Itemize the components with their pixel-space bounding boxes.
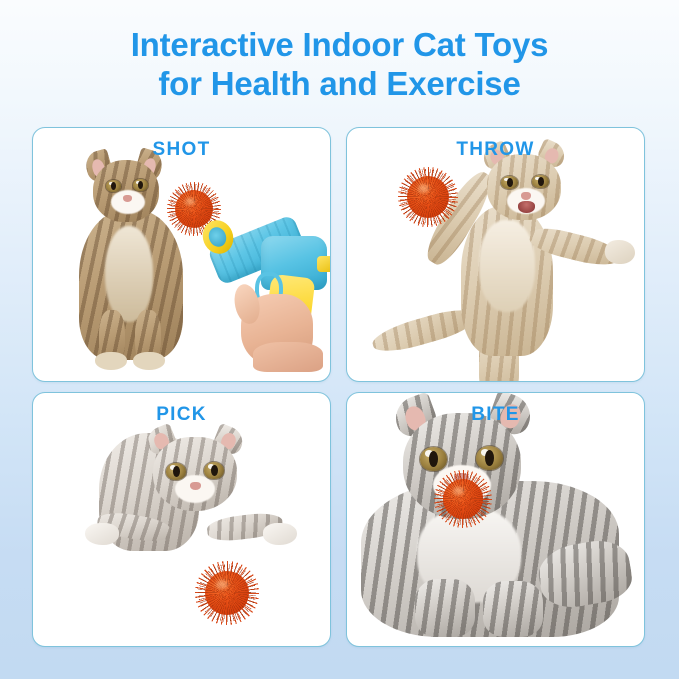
cat-crouching-silver-tabby: [91, 431, 281, 581]
panel-label-bite: BITE: [347, 404, 644, 426]
cat-chest: [105, 226, 153, 322]
cat-eye-glint-left: [170, 465, 176, 469]
cat-lying-silver-tabby: [361, 403, 631, 639]
cat-paw-left: [95, 352, 127, 370]
cat-eye-left: [166, 463, 186, 480]
cat-eye-glint-left: [504, 178, 509, 181]
cat-paw-right: [605, 240, 635, 264]
feature-panel-grid: SHOT: [32, 127, 645, 647]
cat-eye-right: [133, 179, 148, 191]
cat-chest: [479, 220, 535, 312]
panel-label-throw: THROW: [347, 139, 644, 161]
cat-foreleg-left: [415, 579, 475, 637]
cat-nose: [521, 192, 531, 200]
scene-bite: [347, 393, 644, 646]
cat-eye-left: [106, 180, 121, 192]
cat-mouth: [518, 201, 535, 213]
page-title: Interactive Indoor Cat Toys for Health a…: [0, 26, 679, 104]
scene-pick: [33, 393, 330, 646]
page-title-line-1: Interactive Indoor Cat Toys: [0, 26, 679, 65]
gun-knob[interactable]: [317, 256, 331, 272]
human-hand-lower: [253, 342, 323, 372]
cat-eye-glint-right: [136, 181, 141, 184]
cat-paw-right: [133, 352, 165, 370]
scene-shot: [33, 128, 330, 381]
pompom-highlight: [216, 580, 227, 589]
cat-eye-glint-right: [535, 177, 540, 180]
pompom-ball-bite: [443, 479, 483, 519]
cat-foreleg-right: [483, 581, 543, 637]
cat-nose: [123, 195, 132, 202]
panel-label-shot: SHOT: [33, 139, 330, 161]
pompom-ball-pick: [205, 571, 249, 615]
cat-paw-left: [85, 523, 119, 545]
cat-eye-glint-right: [481, 449, 489, 455]
cat-eye-right: [476, 446, 503, 470]
feature-panel-pick[interactable]: PICK: [32, 392, 331, 647]
cat-head: [153, 437, 237, 511]
cat-head: [93, 160, 159, 222]
page-title-line-2: for Health and Exercise: [0, 65, 679, 104]
toy-launcher-gun[interactable]: [205, 214, 329, 364]
cat-muzzle: [111, 190, 145, 214]
cat-eye-left: [501, 176, 518, 189]
cat-nose: [190, 482, 201, 490]
cat-eye-glint-right: [208, 464, 214, 468]
cat-eye-right: [204, 462, 224, 479]
cat-eye-left: [420, 447, 447, 471]
cat-head: [487, 154, 561, 220]
pompom-highlight: [418, 184, 429, 192]
scene-throw: [347, 128, 644, 381]
cat-eye-glint-left: [109, 182, 114, 185]
cat-paw-right: [263, 523, 297, 545]
pompom-ball-throw: [407, 176, 449, 218]
feature-panel-bite[interactable]: BITE: [346, 392, 645, 647]
feature-panel-throw[interactable]: THROW: [346, 127, 645, 382]
cat-eye-glint-left: [425, 450, 433, 456]
panel-label-pick: PICK: [33, 404, 330, 426]
feature-panel-shot[interactable]: SHOT: [32, 127, 331, 382]
cat-eye-right: [532, 175, 549, 188]
cat-sitting-brown-tabby: [75, 160, 187, 365]
pompom-highlight: [185, 198, 195, 206]
pompom-highlight: [453, 487, 463, 495]
